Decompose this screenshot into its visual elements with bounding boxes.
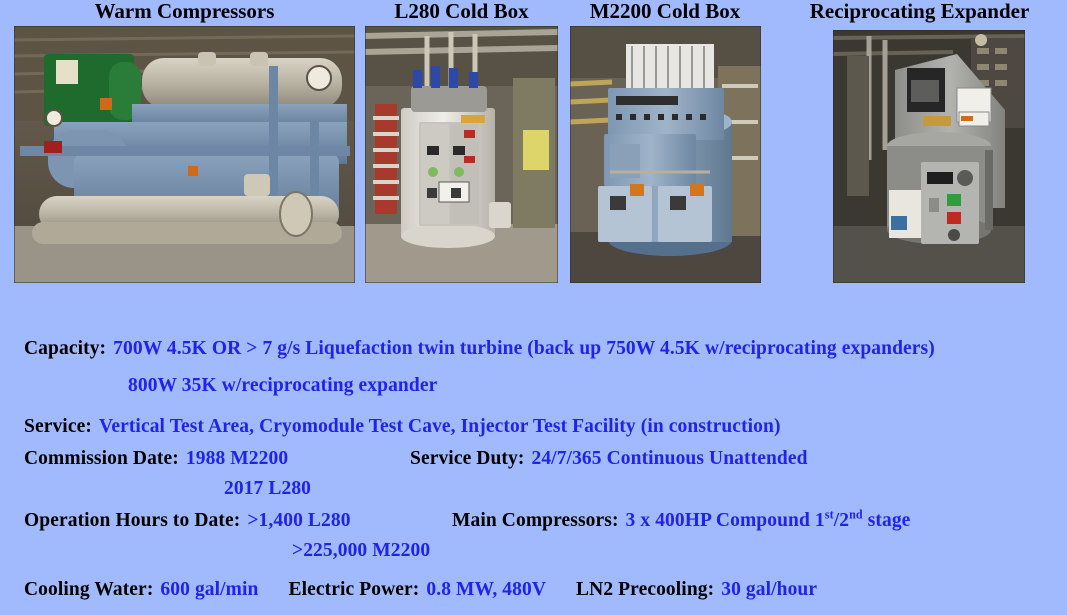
photo-row: [0, 0, 1067, 300]
spec-service-duty: Service Duty:24/7/365 Continuous Unatten…: [410, 448, 808, 470]
spec-commission-date-line2: 2017 L280: [224, 478, 311, 500]
spec-service: Service:Vertical Test Area, Cryomodule T…: [24, 416, 781, 438]
commission-date-value: 1988 M2200: [186, 448, 288, 469]
spec-capacity-line2: 800W 35K w/reciprocating expander: [128, 375, 437, 397]
l280-cold-box-image: [365, 26, 558, 283]
main-compressors-value-mid: /2: [834, 510, 849, 531]
electric-power-value: 0.8 MW, 480V: [426, 579, 546, 600]
spec-commission-date: Commission Date:1988 M2200: [24, 448, 288, 470]
spec-main-compressors: Main Compressors:3 x 400HP Compound 1st/…: [452, 510, 910, 532]
operation-hours-value-line2: >225,000 M2200: [292, 540, 430, 561]
spec-capacity: Capacity:700W 4.5K OR > 7 g/s Liquefacti…: [24, 338, 935, 360]
specifications-block: Capacity:700W 4.5K OR > 7 g/s Liquefacti…: [0, 330, 1067, 615]
spec-utilities: Cooling Water:600 gal/minElectric Power:…: [24, 579, 817, 601]
warm-compressors-image: [14, 26, 355, 283]
photo-l280-cold-box: [365, 26, 558, 283]
ln2-precooling-label: LN2 Precooling:: [576, 579, 714, 600]
m2200-cold-box-image: [570, 26, 761, 283]
slide-root: { "background_color": "#a1b9fd", "label_…: [0, 0, 1067, 615]
main-compressors-sup-2nd: nd: [849, 508, 863, 522]
capacity-value: 700W 4.5K OR > 7 g/s Liquefaction twin t…: [113, 338, 935, 359]
reciprocating-expander-image: [833, 30, 1025, 283]
commission-date-label: Commission Date:: [24, 448, 179, 469]
cooling-water-label: Cooling Water:: [24, 579, 153, 600]
ln2-precooling-value: 30 gal/hour: [721, 579, 817, 600]
spec-operation-hours: Operation Hours to Date:>1,400 L280: [24, 510, 351, 532]
main-compressors-label: Main Compressors:: [452, 510, 619, 531]
main-compressors-value: 3 x 400HP Compound 1st/2nd stage: [626, 510, 911, 531]
service-duty-value: 24/7/365 Continuous Unattended: [531, 448, 807, 469]
electric-power-label: Electric Power:: [289, 579, 420, 600]
main-compressors-value-post: stage: [863, 510, 911, 531]
photo-m2200-cold-box: [570, 26, 761, 283]
operation-hours-value: >1,400 L280: [247, 510, 350, 531]
service-label: Service:: [24, 416, 92, 437]
cooling-water-value: 600 gal/min: [160, 579, 258, 600]
spec-operation-hours-line2: >225,000 M2200: [292, 540, 430, 562]
service-value: Vertical Test Area, Cryomodule Test Cave…: [99, 416, 781, 437]
commission-date-value-line2: 2017 L280: [224, 478, 311, 499]
main-compressors-value-pre: 3 x 400HP Compound 1: [626, 510, 825, 531]
photo-reciprocating-expander: [833, 30, 1025, 283]
main-compressors-sup-1st: st: [825, 508, 834, 522]
service-duty-label: Service Duty:: [410, 448, 524, 469]
capacity-value-line2: 800W 35K w/reciprocating expander: [128, 375, 437, 396]
capacity-label: Capacity:: [24, 338, 106, 359]
operation-hours-label: Operation Hours to Date:: [24, 510, 240, 531]
photo-warm-compressors: [14, 26, 355, 283]
